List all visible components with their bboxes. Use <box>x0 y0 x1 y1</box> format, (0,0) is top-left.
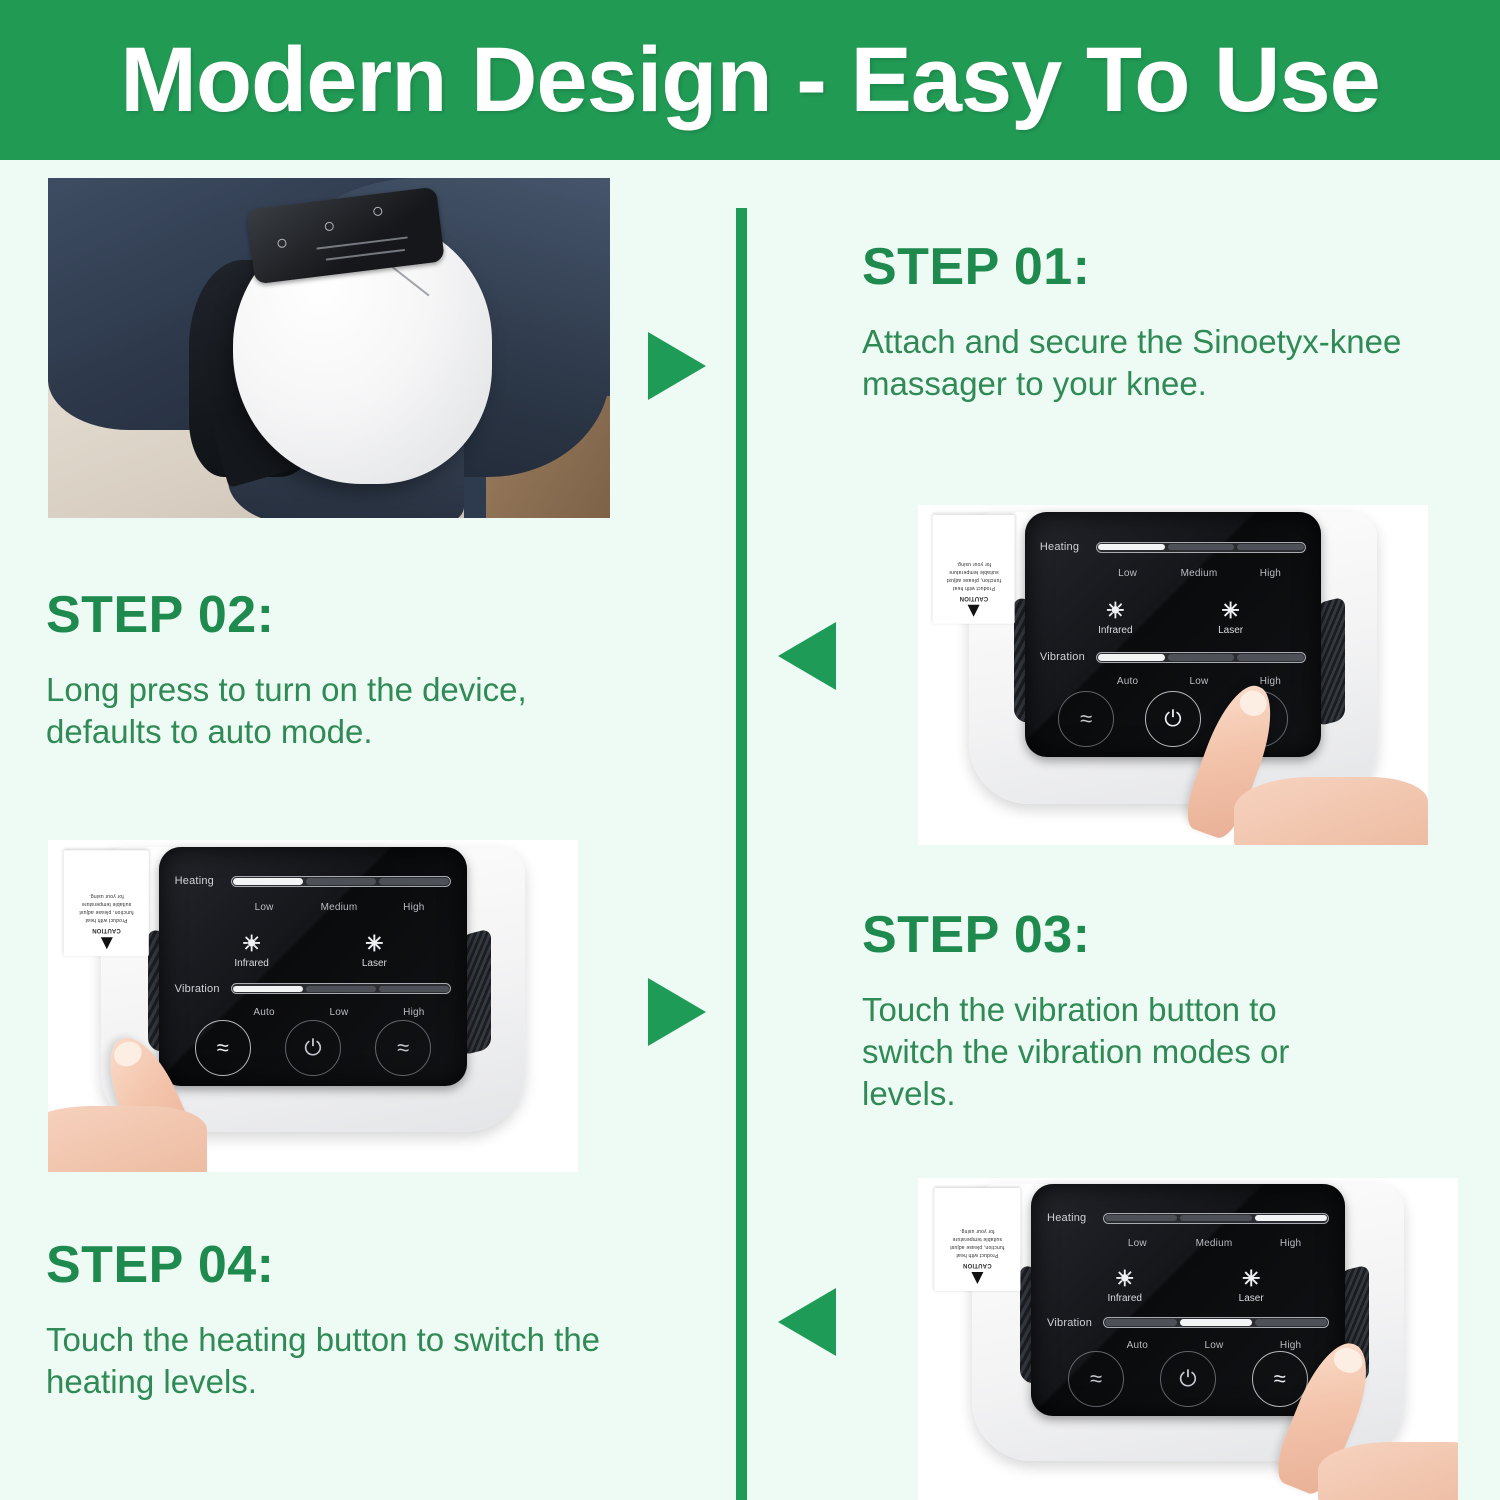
caution-line: Product with heat <box>956 1251 998 1257</box>
heating-seg-high <box>1237 544 1304 550</box>
heating-row: Heating <box>175 875 452 887</box>
heating-tick-medium: Medium <box>302 902 377 913</box>
vibration-seg-auto <box>1105 1319 1177 1325</box>
laser-burst-icon: ✳ <box>337 933 411 955</box>
fingernail <box>1236 686 1270 719</box>
vibration-row: Vibration <box>1047 1317 1329 1329</box>
header-banner: Modern Design - Easy To Use <box>0 0 1500 160</box>
heating-seg-high <box>1255 1215 1327 1221</box>
vibration-label: Vibration <box>175 983 231 995</box>
arrow-left-icon-step02 <box>778 622 836 690</box>
vibration-label: Vibration <box>1047 1317 1103 1329</box>
touch-display[interactable]: Heating Low Medium High ☀ Infrared ✳ <box>1031 1184 1344 1416</box>
control-panel-scene-vibration: CAUTION Product with heat function, plea… <box>48 840 578 1172</box>
infrared-indicator: ☀ Infrared <box>215 933 289 969</box>
heating-tick-high: High <box>1235 568 1306 579</box>
vibration-seg-auto <box>1098 654 1165 660</box>
fingernail <box>111 1037 146 1070</box>
step-01-block: STEP 01: Attach and secure the Sinoetyx-… <box>862 240 1422 405</box>
caution-line: for your using. <box>957 561 992 567</box>
vibration-seg-auto <box>233 986 303 992</box>
step-02-heading: STEP 02: <box>46 588 646 643</box>
heating-label: Heating <box>1040 541 1096 553</box>
heating-tick-low: Low <box>1092 568 1163 579</box>
heating-seg-low <box>233 878 303 884</box>
heating-seg-high <box>379 878 449 884</box>
heating-seg-medium <box>1180 1215 1252 1221</box>
vibration-tick-low: Low <box>1163 676 1234 687</box>
laser-label: Laser <box>1218 625 1243 636</box>
caution-line: for your using. <box>960 1228 995 1234</box>
laser-label: Laser <box>1239 1293 1264 1304</box>
heating-button[interactable]: ≈ <box>375 1020 431 1076</box>
laser-indicator: ✳ Laser <box>1214 1268 1288 1304</box>
vibration-seg-high <box>379 986 449 992</box>
caution-line: suitable temperature <box>82 901 132 907</box>
laser-burst-icon: ✳ <box>1214 1268 1288 1290</box>
photo-vibration-button-press: CAUTION Product with heat function, plea… <box>48 840 578 1172</box>
power-button[interactable]: ⏻ <box>285 1020 341 1076</box>
step-04-body: Touch the heating button to switch the h… <box>46 1319 626 1403</box>
heating-tick-low: Low <box>227 902 302 913</box>
power-button[interactable]: ⏻ <box>1145 691 1201 747</box>
vibration-button[interactable]: ≈ <box>1068 1351 1124 1407</box>
step-04-block: STEP 04: Touch the heating button to swi… <box>46 1238 626 1403</box>
laser-indicator: ✳ Laser <box>337 933 411 969</box>
touch-display[interactable]: Heating Low Medium High ☀ Infrared ✳ <box>1025 512 1321 757</box>
caution-line: function, please adjust <box>947 577 1001 583</box>
photo-power-button-press: CAUTION Product with heat function, plea… <box>918 505 1428 845</box>
heating-tick-medium: Medium <box>1176 1238 1253 1249</box>
heating-level-bar <box>1103 1213 1329 1224</box>
heating-ticks: Low Medium High <box>175 902 452 913</box>
heating-ticks: Low Medium High <box>1040 568 1306 579</box>
caution-label: CAUTION Product with heat function, plea… <box>933 515 1015 624</box>
step-02-body: Long press to turn on the device, defaul… <box>46 669 646 753</box>
vibration-seg-low <box>1168 654 1235 660</box>
sun-burst-icon: ☀ <box>215 933 289 955</box>
heating-ticks: Low Medium High <box>1047 1238 1329 1249</box>
heating-tick-medium: Medium <box>1163 568 1234 579</box>
heating-seg-medium <box>306 878 376 884</box>
heating-level-bar <box>1096 542 1306 553</box>
heating-tick-low: Low <box>1099 1238 1176 1249</box>
infrared-label: Infrared <box>1108 1293 1142 1304</box>
caution-line: suitable temperature <box>949 569 999 575</box>
heating-row: Heating <box>1040 541 1306 553</box>
panel-indicator-icon <box>373 207 383 217</box>
photo-heating-button-press: CAUTION Product with heat function, plea… <box>918 1178 1458 1500</box>
button-row: ≈ ⏻ ≈ <box>178 1020 449 1076</box>
page-title: Modern Design - Easy To Use <box>120 34 1380 126</box>
touch-display[interactable]: Heating Low Medium High ☀ Infrared ✳ <box>159 847 466 1086</box>
vibration-ticks: Auto Low High <box>1040 676 1306 687</box>
heating-tick-high: High <box>1252 1238 1329 1249</box>
vibration-seg-high <box>1255 1319 1327 1325</box>
vibration-level-bar <box>231 983 452 994</box>
infrared-indicator: ☀ Infrared <box>1088 1268 1162 1304</box>
vibration-level-bar <box>1096 652 1306 663</box>
vibration-tick-auto: Auto <box>227 1007 302 1018</box>
panel-indicator-icon <box>325 222 335 232</box>
control-panel-scene-power: CAUTION Product with heat function, plea… <box>918 505 1428 845</box>
knee-scene <box>48 178 610 518</box>
step-01-body: Attach and secure the Sinoetyx-knee mass… <box>862 321 1422 405</box>
warning-triangle-icon <box>968 605 980 617</box>
vibration-ticks: Auto Low High <box>175 1007 452 1018</box>
infrared-indicator: ☀ Infrared <box>1078 600 1152 636</box>
mode-indicators: ☀ Infrared ✳ Laser <box>215 933 412 969</box>
caution-line: for your using. <box>89 894 124 900</box>
caution-line: Product with heat <box>953 585 995 591</box>
laser-label: Laser <box>362 958 387 969</box>
caution-title: CAUTION <box>68 925 145 934</box>
control-panel-scene-heating: CAUTION Product with heat function, plea… <box>918 1178 1458 1500</box>
heating-tick-high: High <box>376 902 451 913</box>
caution-line: function, please adjust <box>79 909 133 915</box>
step-02-block: STEP 02: Long press to turn on the devic… <box>46 588 646 753</box>
fingernail <box>1330 1344 1366 1378</box>
vibration-level-bar <box>1103 1317 1329 1328</box>
heating-level-bar <box>231 876 452 887</box>
vibration-row: Vibration <box>1040 651 1306 663</box>
mode-indicators: ☀ Infrared ✳ Laser <box>1078 600 1267 636</box>
caution-text: CAUTION Product with heat function, plea… <box>68 892 145 934</box>
vibration-row: Vibration <box>175 983 452 995</box>
button-row: ≈ ⏻ ≈ <box>1050 1351 1326 1407</box>
vibration-tick-high: High <box>376 1007 451 1018</box>
step-04-heading: STEP 04: <box>46 1238 626 1293</box>
sun-burst-icon: ☀ <box>1088 1268 1162 1290</box>
hand <box>1234 777 1428 845</box>
caution-line: function, please adjust <box>950 1244 1004 1250</box>
heating-button[interactable]: ≈ <box>1252 1351 1308 1407</box>
vibration-tick-high: High <box>1252 1340 1329 1351</box>
heating-seg-low <box>1105 1215 1177 1221</box>
infrared-label: Infrared <box>1098 625 1132 636</box>
panel-bar <box>326 250 406 262</box>
caution-label: CAUTION Product with heat function, plea… <box>934 1188 1020 1291</box>
vibration-button[interactable]: ≈ <box>1058 691 1114 747</box>
vibration-tick-auto: Auto <box>1092 676 1163 687</box>
step-01-heading: STEP 01: <box>862 240 1422 295</box>
panel-indicator-icon <box>277 239 287 249</box>
sun-burst-icon: ☀ <box>1078 600 1152 622</box>
vibration-tick-low: Low <box>1176 1340 1253 1351</box>
power-button[interactable]: ⏻ <box>1160 1351 1216 1407</box>
warning-triangle-icon <box>100 937 112 949</box>
caution-text: CAUTION Product with heat function, plea… <box>937 560 1011 602</box>
vibration-label: Vibration <box>1040 651 1096 663</box>
vibration-seg-low <box>306 986 376 992</box>
vibration-ticks: Auto Low High <box>1047 1340 1329 1351</box>
caution-label: CAUTION Product with heat function, plea… <box>64 850 149 956</box>
hand <box>48 1106 207 1172</box>
laser-indicator: ✳ Laser <box>1194 600 1268 636</box>
caution-line: Product with heat <box>85 917 127 923</box>
vibration-tick-auto: Auto <box>1099 1340 1176 1351</box>
vibration-tick-high: High <box>1235 676 1306 687</box>
caution-line: suitable temperature <box>953 1236 1003 1242</box>
vertical-divider <box>736 208 747 1500</box>
mode-indicators: ☀ Infrared ✳ Laser <box>1088 1268 1288 1304</box>
arrow-left-icon-step04 <box>778 1288 836 1356</box>
vibration-seg-low <box>1180 1319 1252 1325</box>
caution-title: CAUTION <box>937 593 1011 602</box>
hand <box>1318 1442 1458 1500</box>
warning-triangle-icon <box>971 1272 983 1284</box>
vibration-button[interactable]: ≈ <box>195 1020 251 1076</box>
step-03-heading: STEP 03: <box>862 908 1362 963</box>
caution-text: CAUTION Product with heat function, plea… <box>938 1226 1016 1268</box>
panel-bar <box>317 237 408 250</box>
infrared-label: Infrared <box>234 958 268 969</box>
arrow-right-icon-step01 <box>648 332 706 400</box>
heating-seg-medium <box>1168 544 1235 550</box>
heating-label: Heating <box>1047 1212 1103 1224</box>
arrow-right-icon-step03 <box>648 978 706 1046</box>
heating-label: Heating <box>175 875 231 887</box>
laser-burst-icon: ✳ <box>1194 600 1268 622</box>
vibration-seg-high <box>1237 654 1304 660</box>
heating-row: Heating <box>1047 1212 1329 1224</box>
caution-title: CAUTION <box>938 1259 1016 1268</box>
step-03-block: STEP 03: Touch the vibration button to s… <box>862 908 1362 1115</box>
heating-seg-low <box>1098 544 1165 550</box>
vibration-tick-low: Low <box>302 1007 377 1018</box>
step-03-body: Touch the vibration button to switch the… <box>862 989 1362 1116</box>
photo-knee-massager-on-leg <box>48 178 610 518</box>
